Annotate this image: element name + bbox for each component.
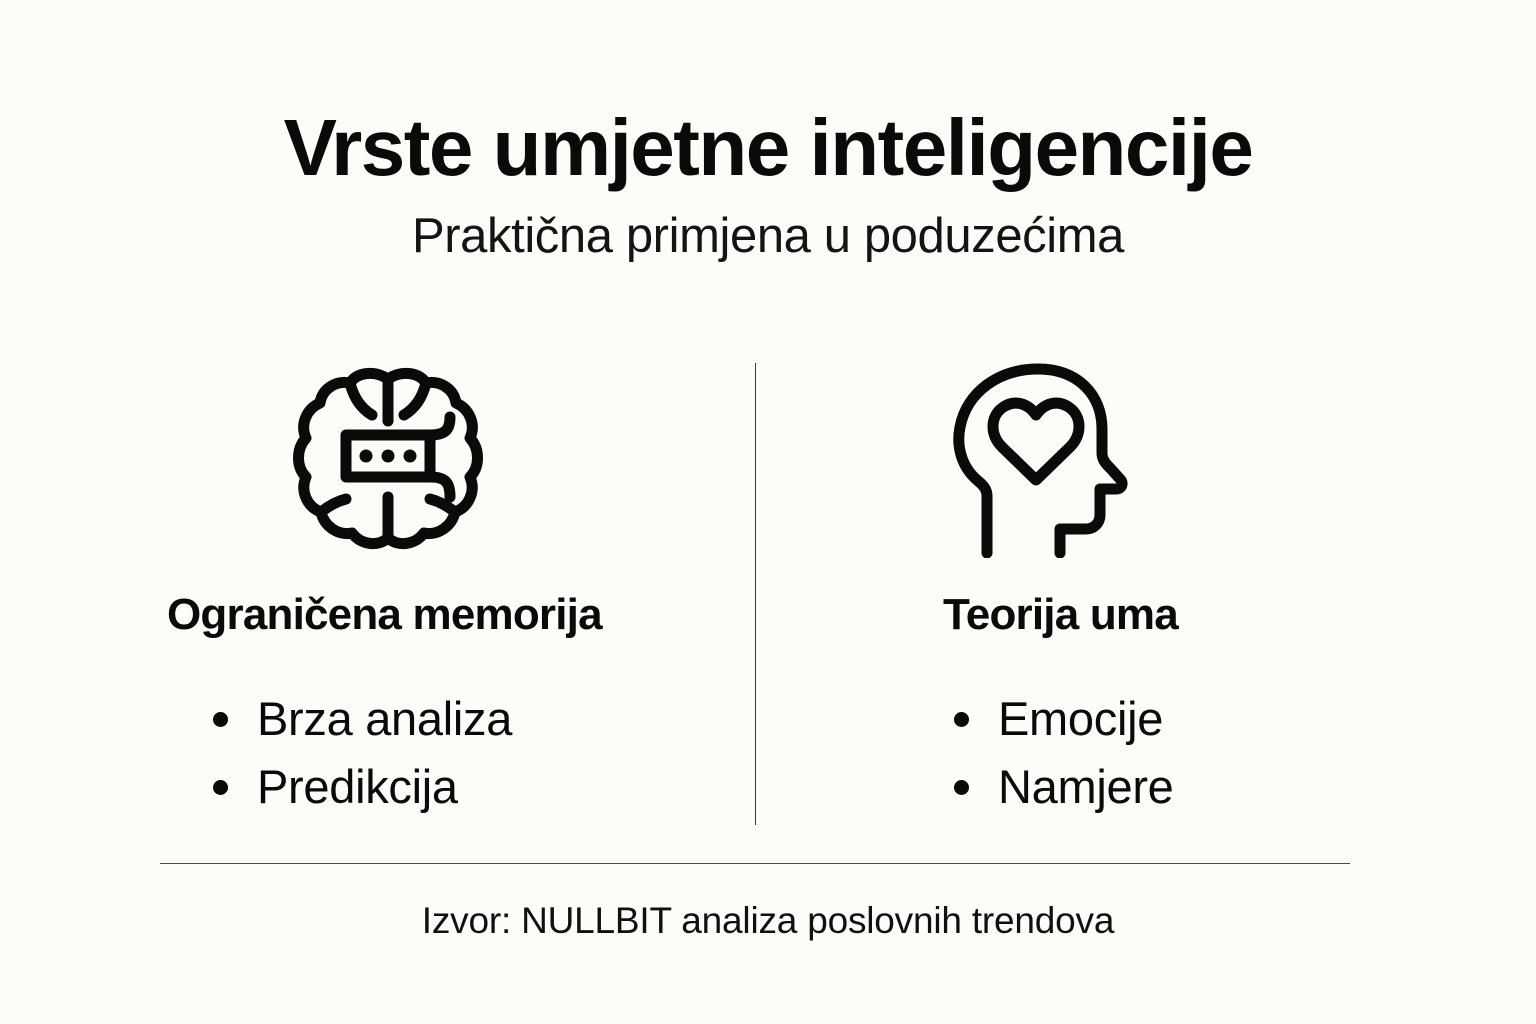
list-item-label: Namjere bbox=[998, 760, 1174, 813]
column-heading-limited-memory: Ograničena memorija bbox=[167, 593, 602, 637]
list-item-label: Emocije bbox=[998, 692, 1163, 745]
list-item: Namjere bbox=[946, 753, 1174, 821]
bullet-dot-icon bbox=[954, 780, 969, 795]
list-item-label: Predikcija bbox=[257, 760, 458, 813]
column-limited-memory: Ograničena memorija Brza analiza Predikc… bbox=[0, 355, 768, 835]
page-subtitle: Praktična primjena u poduzećima bbox=[0, 212, 1536, 261]
vertical-divider bbox=[755, 363, 756, 825]
infographic-canvas: Vrste umjetne inteligencije Praktična pr… bbox=[0, 0, 1536, 1024]
head-heart-icon bbox=[768, 360, 1536, 560]
bullet-dot-icon bbox=[954, 712, 969, 727]
header: Vrste umjetne inteligencije Praktična pr… bbox=[0, 108, 1536, 261]
column-heading-theory-of-mind: Teorija uma bbox=[943, 593, 1178, 637]
bullet-dot-icon bbox=[213, 780, 228, 795]
column-theory-of-mind: Teorija uma Emocije Namjere bbox=[768, 355, 1536, 835]
list-item: Predikcija bbox=[205, 753, 512, 821]
list-item: Emocije bbox=[946, 685, 1174, 753]
list-item-label: Brza analiza bbox=[257, 692, 512, 745]
bullet-dot-icon bbox=[213, 712, 228, 727]
horizontal-divider bbox=[160, 863, 1350, 864]
columns-container: Ograničena memorija Brza analiza Predikc… bbox=[0, 355, 1536, 835]
source-note: Izvor: NULLBIT analiza poslovnih trendov… bbox=[0, 900, 1536, 942]
bullet-list-theory-of-mind: Emocije Namjere bbox=[946, 685, 1174, 821]
page-title: Vrste umjetne inteligencije bbox=[0, 108, 1536, 188]
bullet-list-limited-memory: Brza analiza Predikcija bbox=[205, 685, 512, 821]
list-item: Brza analiza bbox=[205, 685, 512, 753]
brain-chip-icon bbox=[0, 360, 768, 560]
